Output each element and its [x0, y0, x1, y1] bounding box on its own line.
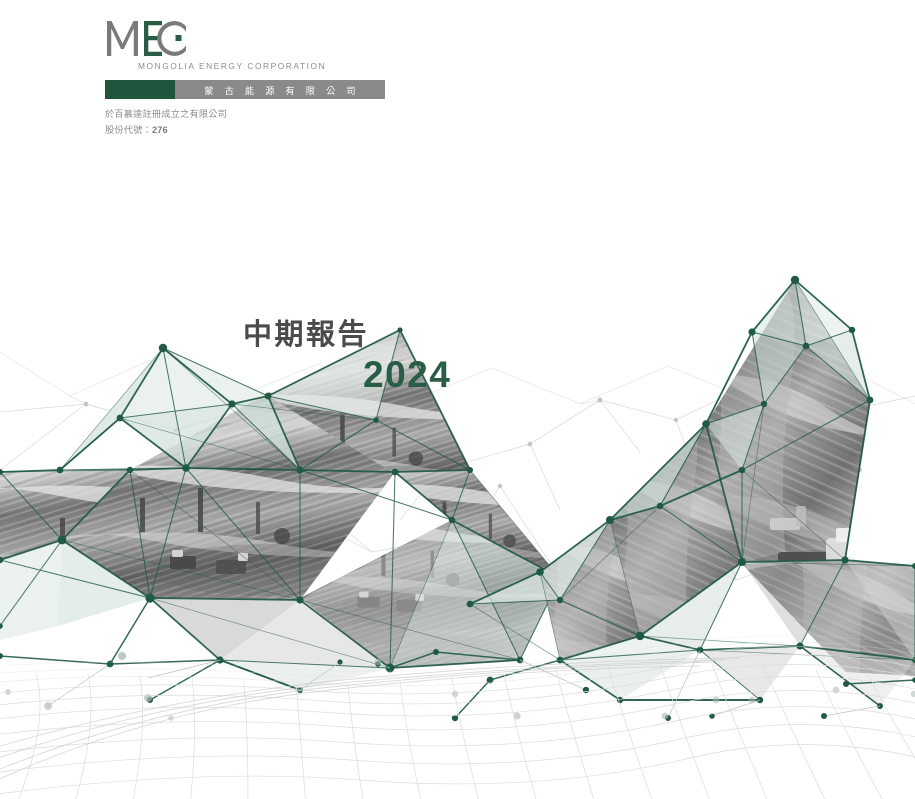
- incorporation-note: 於百慕達註冊成立之有限公司: [105, 106, 405, 122]
- logo-letter-e: [144, 21, 162, 56]
- right-mountain-nodes: [467, 276, 915, 709]
- report-year: 2024: [363, 355, 503, 395]
- foreground-nodes: [0, 649, 915, 721]
- mec-wordmark-logo: [105, 18, 189, 58]
- cover-title-block: 中期報告 2024: [243, 318, 503, 395]
- background-wireframe-nodes: [84, 386, 862, 550]
- company-chinese-name: 蒙 古 能 源 有 限 公 司: [175, 80, 385, 99]
- foreground-nodes-grey: [5, 652, 915, 721]
- perspective-ground-grid: [0, 636, 915, 799]
- logo-letter-m: [107, 21, 138, 56]
- stock-code-value: 276: [152, 125, 168, 135]
- company-tagline: MONGOLIA ENERGY CORPORATION: [138, 60, 405, 72]
- report-cover-page: MONGOLIA ENERGY CORPORATION 蒙 古 能 源 有 限 …: [0, 0, 915, 799]
- company-masthead: MONGOLIA ENERGY CORPORATION 蒙 古 能 源 有 限 …: [105, 18, 405, 138]
- stock-code-line: 股份代號：276: [105, 122, 405, 138]
- foreground-node-tendrils-faint: [48, 650, 880, 718]
- foreground-node-tendrils: [0, 598, 915, 718]
- logo-letter-c: [157, 21, 186, 56]
- right-mountain: [484, 269, 915, 799]
- report-title: 中期報告: [243, 318, 503, 352]
- name-bar-green-block: [105, 80, 175, 99]
- right-mountain-wireframe: [470, 280, 915, 706]
- stock-code-label: 股份代號：: [105, 125, 152, 135]
- logo-accent-dot: [176, 35, 182, 41]
- chinese-name-bar: 蒙 古 能 源 有 限 公 司: [105, 80, 385, 99]
- perspective-ground-grid-creases: [0, 658, 740, 798]
- right-mountain-facets: [470, 280, 915, 706]
